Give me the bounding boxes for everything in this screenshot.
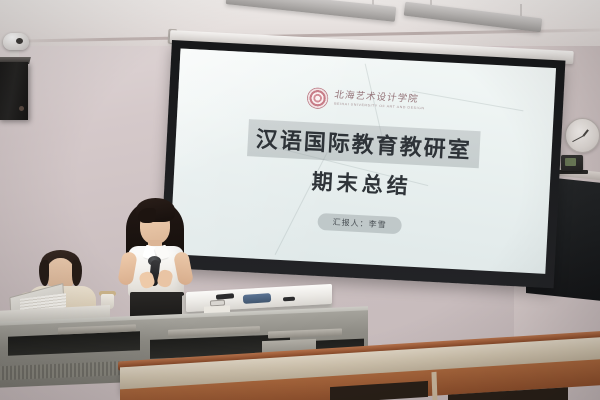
university-logo: 北海艺术设计学院 BEIHAI UNIVERSITY OF ART AND DE…	[307, 87, 425, 114]
attendee-hair-right	[72, 260, 82, 286]
wall-clock-icon	[565, 118, 600, 153]
slide-presenter-label: 汇报人：李雪	[317, 213, 402, 234]
logo-text-block: 北海艺术设计学院 BEIHAI UNIVERSITY OF ART AND DE…	[334, 92, 425, 112]
wall-mounted-control-unit[interactable]	[561, 155, 583, 171]
slide-content: 北海艺术设计学院 BEIHAI UNIVERSITY OF ART AND DE…	[170, 48, 556, 273]
slide-title-line-2: 期末总结	[311, 166, 412, 201]
desk-divider	[431, 372, 437, 400]
blue-presenter-device[interactable]	[243, 293, 272, 304]
spiral-logo-mark-icon	[307, 87, 329, 109]
dome-security-camera-icon	[3, 33, 29, 50]
wall-speaker	[0, 62, 28, 120]
slide-title-line-1: 汉语国际教育教研室	[247, 119, 481, 168]
clock-minute-hand	[572, 135, 583, 142]
attendee-hair-left	[39, 260, 49, 286]
projection-screen-surface: 北海艺术设计学院 BEIHAI UNIVERSITY OF ART AND DE…	[170, 48, 556, 273]
small-remote[interactable]	[283, 297, 295, 302]
presenter-fringe	[138, 208, 156, 223]
classroom-photo: 北海艺术设计学院 BEIHAI UNIVERSITY OF ART AND DE…	[0, 0, 600, 400]
projection-screen-frame: 北海艺术设计学院 BEIHAI UNIVERSITY OF ART AND DE…	[160, 40, 565, 288]
camera-mount	[10, 49, 19, 57]
